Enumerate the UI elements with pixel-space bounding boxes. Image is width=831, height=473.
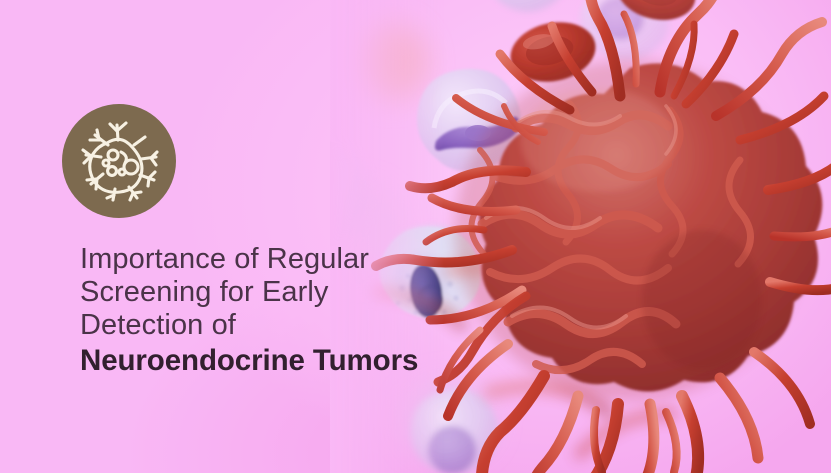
cell-icon-badge bbox=[62, 104, 176, 218]
headline-line-2: Screening for Early bbox=[80, 276, 500, 309]
tumor-cell-icon bbox=[77, 119, 161, 203]
banner: Importance of Regular Screening for Earl… bbox=[0, 0, 831, 473]
page-title: Importance of Regular Screening for Earl… bbox=[80, 243, 500, 377]
headline-line-3: Detection of bbox=[80, 309, 500, 342]
headline-line-4: Neuroendocrine Tumors bbox=[80, 344, 500, 377]
headline-line-1: Importance of Regular bbox=[80, 243, 500, 276]
tumor-cell-illustration bbox=[330, 0, 831, 473]
